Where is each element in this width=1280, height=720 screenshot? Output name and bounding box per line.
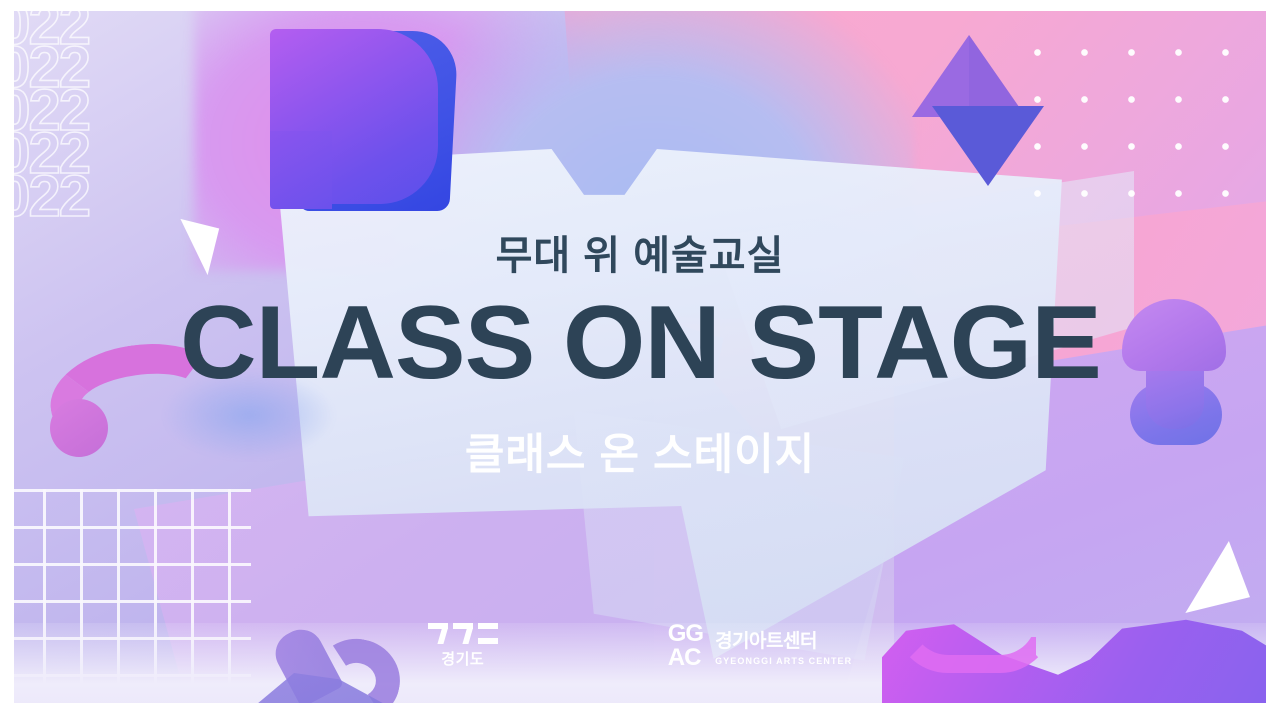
gyeonggi-do-label: 경기도 (441, 648, 484, 669)
poster-root: 2022 2022 2022 2022 2022 무대 위 예술교실 (0, 0, 1280, 720)
title-block: 무대 위 예술교실 CLASS ON STAGE 클래스 온 스테이지 (14, 11, 1266, 703)
gg-stroke-icon (428, 623, 448, 644)
gyeonggi-arts-center-logo: GG AC 경기아트센터 GYEONGGI ARTS CENTER (668, 623, 853, 669)
ggac-label-korean: 경기아트센터 (715, 626, 817, 653)
korean-subtitle: 무대 위 예술교실 (496, 233, 785, 279)
gyeonggi-do-symbol-icon (428, 623, 498, 644)
ggac-monogram-icon: GG AC (668, 623, 703, 669)
gyeonggi-do-logo: 경기도 (428, 623, 498, 669)
ggac-monogram-line-2: AC (668, 647, 703, 670)
gg-stroke-icon (453, 623, 473, 644)
ggac-monogram-line-1: GG (668, 623, 703, 646)
logo-row: 경기도 GG AC 경기아트센터 GYEONGGI ARTS CENTER (14, 623, 1266, 669)
poster-artwork-area: 2022 2022 2022 2022 2022 무대 위 예술교실 (14, 11, 1266, 703)
ggac-text-block: 경기아트센터 GYEONGGI ARTS CENTER (715, 626, 852, 666)
ggac-label-english: GYEONGGI ARTS CENTER (715, 656, 852, 666)
gg-stroke-flat-icon (478, 623, 498, 644)
korean-tagline: 클래스 온 스테이지 (465, 431, 815, 480)
main-wordmark: CLASS ON STAGE (180, 291, 1101, 395)
